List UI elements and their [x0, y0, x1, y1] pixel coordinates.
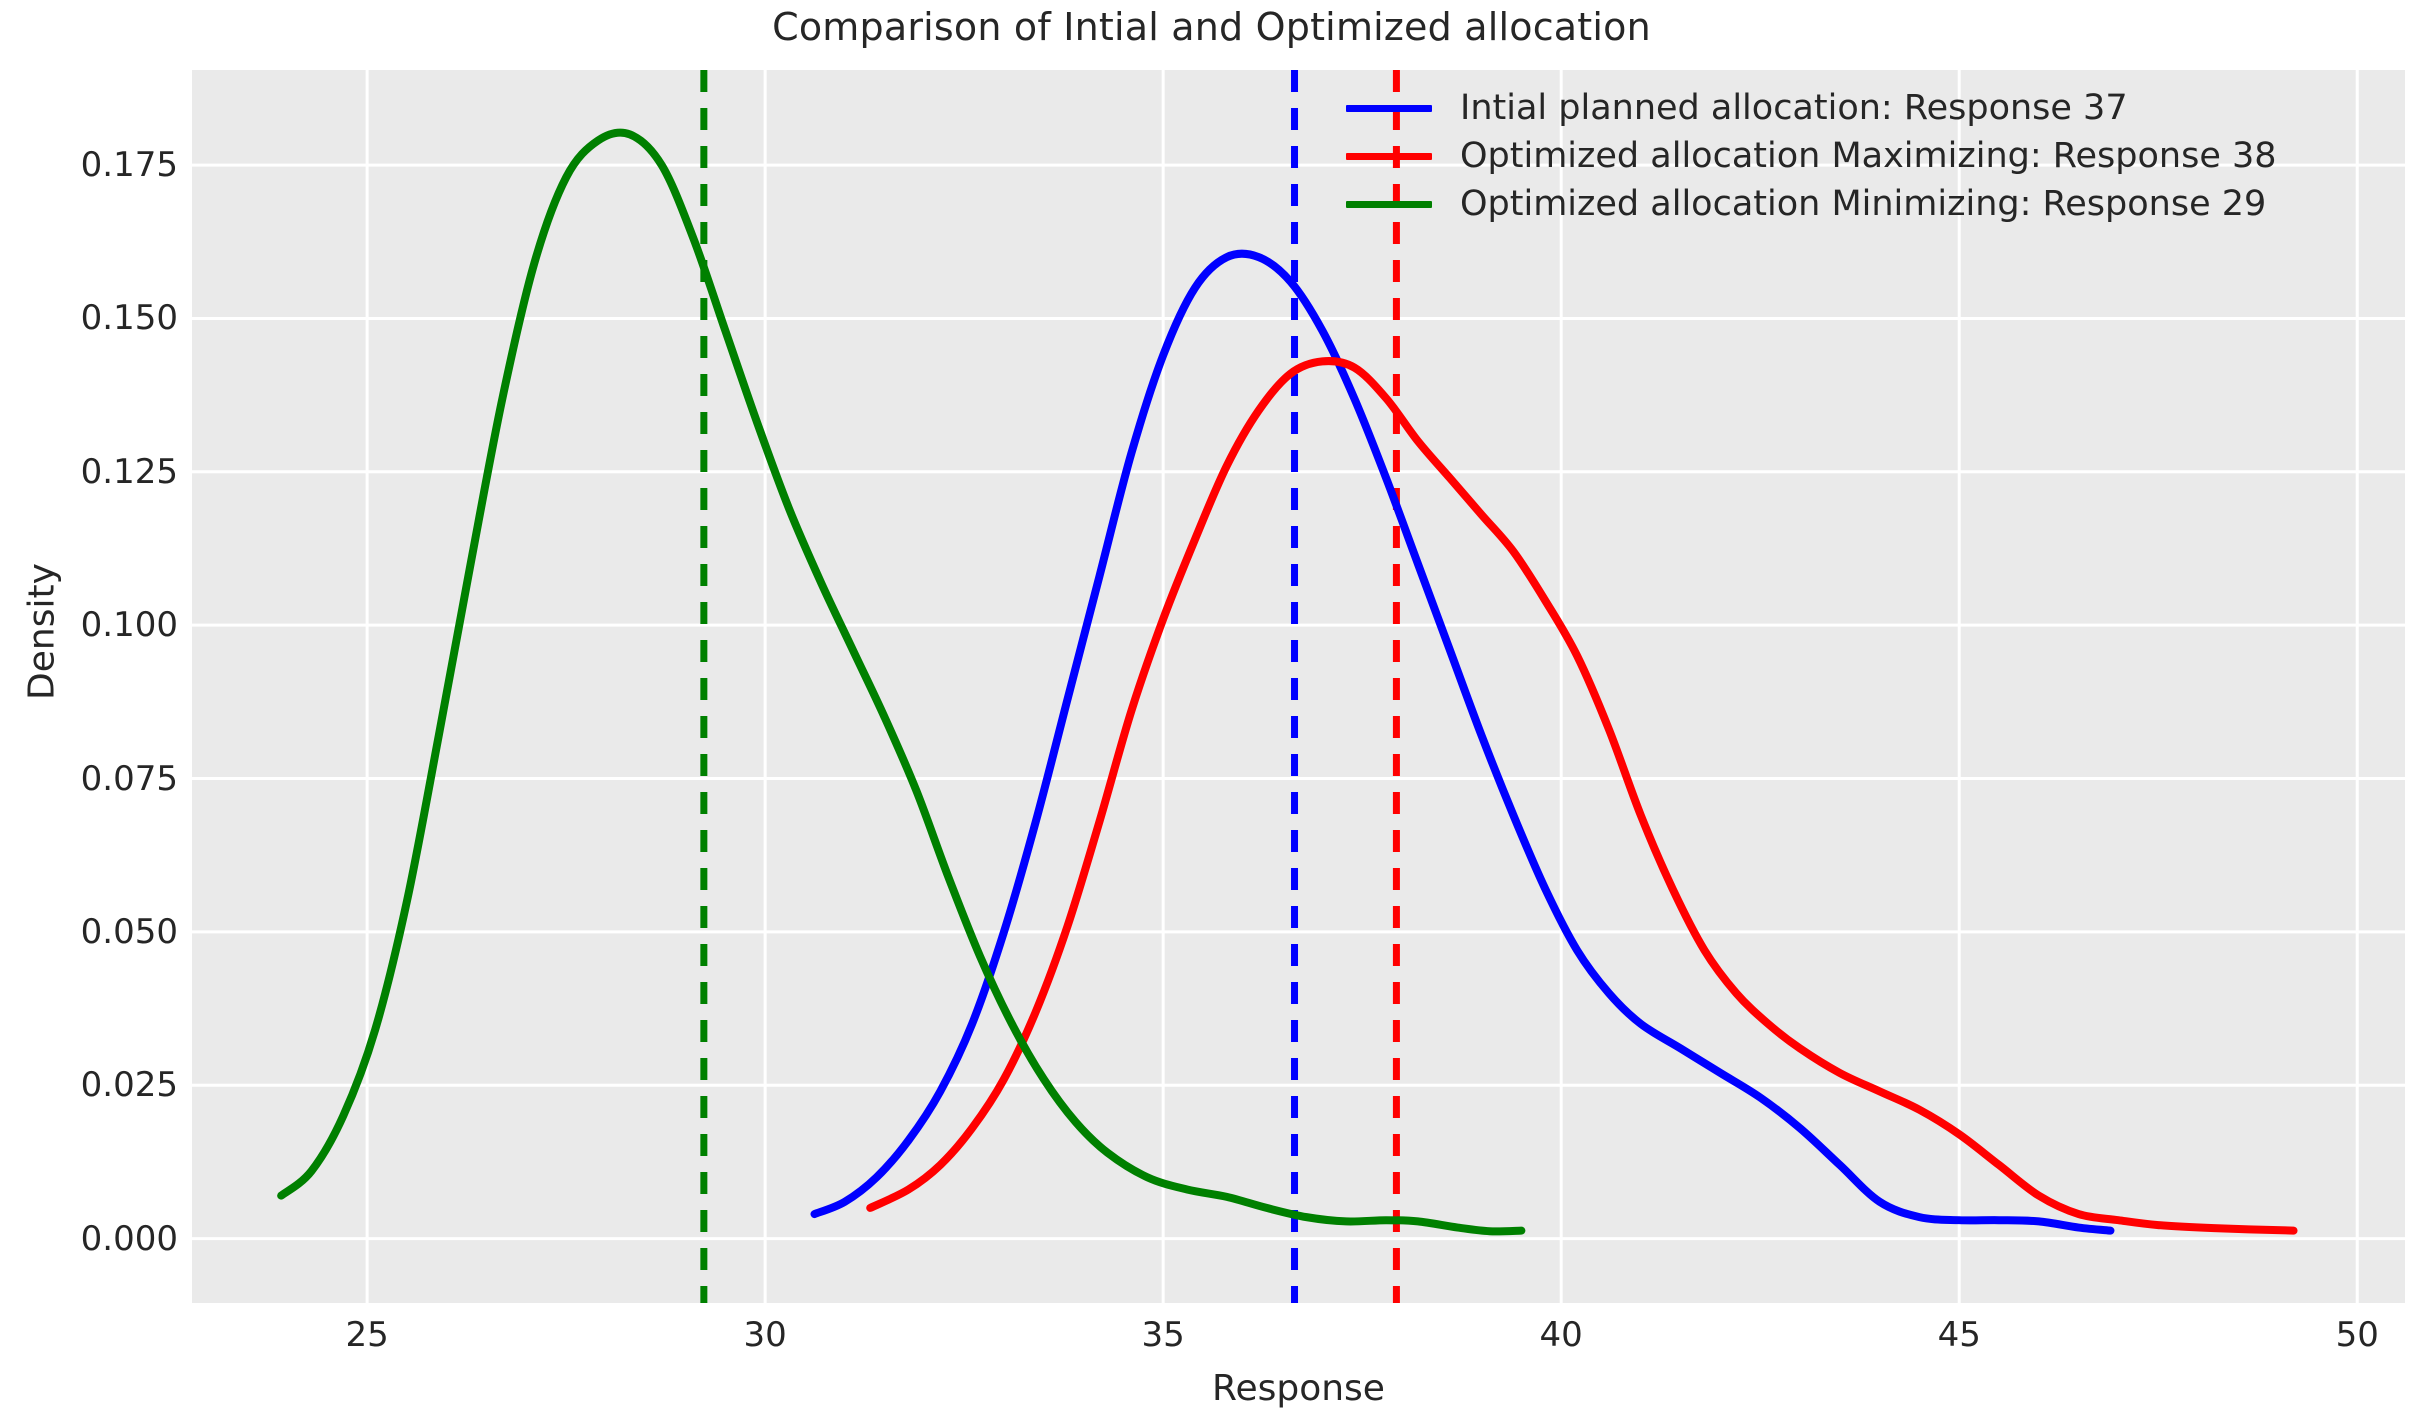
y-tick-label: 0.125 [81, 452, 178, 492]
density-curve-1 [870, 361, 2293, 1231]
legend-item[interactable]: Optimized allocation Maximizing: Respons… [1346, 132, 2277, 180]
x-tick-label: 35 [1142, 1315, 1185, 1355]
density-comparison-figure: Comparison of Intial and Optimized alloc… [0, 0, 2423, 1423]
density-curve-2 [281, 133, 1521, 1232]
y-tick-label: 0.175 [81, 145, 178, 185]
legend: Intial planned allocation: Response 37Op… [1340, 78, 2287, 234]
plot-area [192, 70, 2405, 1303]
legend-item[interactable]: Optimized allocation Minimizing: Respons… [1346, 180, 2277, 228]
y-tick-label: 0.100 [81, 605, 178, 645]
x-tick-label: 45 [1938, 1315, 1981, 1355]
density-curves [192, 70, 2405, 1303]
legend-label: Optimized allocation Minimizing: Respons… [1460, 184, 2266, 224]
x-tick-label: 30 [744, 1315, 787, 1355]
density-curve-0 [815, 254, 2111, 1231]
x-tick-label: 50 [2336, 1315, 2379, 1355]
y-tick-label: 0.000 [81, 1219, 178, 1259]
y-tick-label: 0.075 [81, 759, 178, 799]
legend-line-swatch [1346, 153, 1432, 160]
x-tick-label: 25 [345, 1315, 388, 1355]
x-tick-label: 40 [1540, 1315, 1583, 1355]
y-axis-label: Density [22, 322, 63, 942]
y-tick-label: 0.150 [81, 298, 178, 338]
y-tick-label: 0.050 [81, 912, 178, 952]
x-axis-label: Response [192, 1368, 2405, 1409]
legend-item[interactable]: Intial planned allocation: Response 37 [1346, 84, 2277, 132]
page-title: Comparison of Intial and Optimized alloc… [0, 5, 2423, 49]
y-tick-label: 0.025 [81, 1065, 178, 1105]
legend-label: Intial planned allocation: Response 37 [1460, 88, 2128, 128]
legend-label: Optimized allocation Maximizing: Respons… [1460, 136, 2277, 176]
legend-line-swatch [1346, 201, 1432, 208]
legend-line-swatch [1346, 105, 1432, 112]
